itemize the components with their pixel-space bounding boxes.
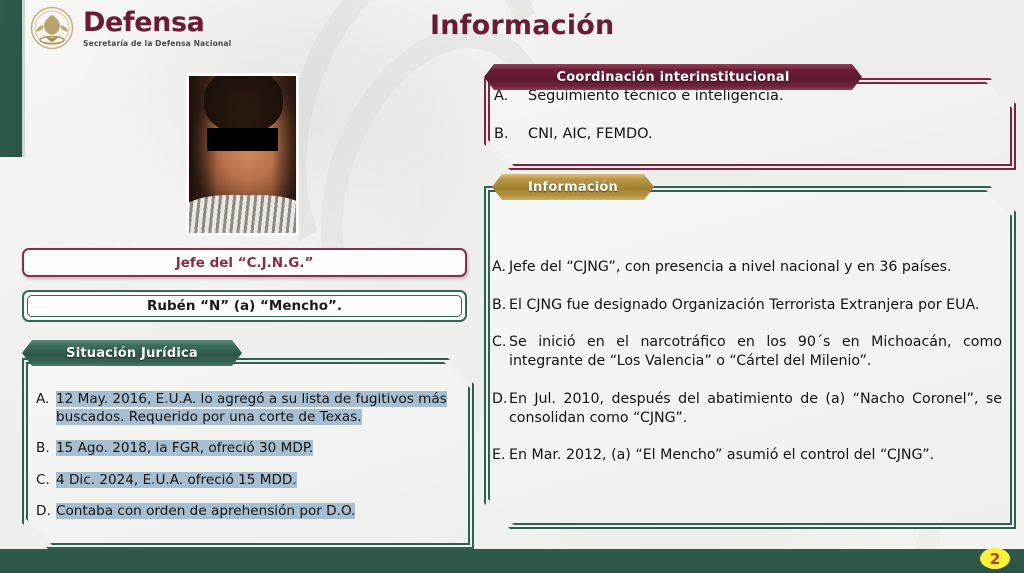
coordinacion-banner-label: Coordinación interinstitucional <box>557 70 790 85</box>
list-item: A. Seguimiento técnico e inteligencia. <box>494 88 1014 104</box>
list-item: B. 15 Ago. 2018, la FGR, ofreció 30 MDP. <box>36 439 468 457</box>
photo-shirt <box>189 195 296 233</box>
list-item-marker: D. <box>492 390 509 409</box>
redaction-bar <box>207 128 278 152</box>
list-item: C. 4 Dic. 2024, E.U.A. ofreció 15 MDD. <box>36 471 468 489</box>
mexico-eagle-emblem-icon <box>30 6 74 50</box>
footer-bar <box>0 549 1024 573</box>
brand-lockup: Defensa Secretaría de la Defensa Naciona… <box>30 6 231 50</box>
list-item-marker: B. <box>492 296 509 315</box>
list-item-text: Contaba con orden de aprehensión por D.O… <box>56 503 355 519</box>
list-item-text: 12 May. 2016, E.U.A. lo agregó a su list… <box>56 391 447 425</box>
name-box-label: Rubén “N” (a) “Mencho”. <box>147 298 342 314</box>
list-item-marker: D. <box>36 502 56 520</box>
list-item-text: 4 Dic. 2024, E.U.A. ofreció 15 MDD. <box>56 472 297 488</box>
list-item-text: CNI, AIC, FEMDO. <box>528 126 1014 142</box>
list-item-text: En Mar. 2012, (a) “El Mencho” asumió el … <box>509 446 1014 465</box>
list-item-marker: A. <box>494 88 528 104</box>
list-item: D. Contaba con orden de aprehensión por … <box>36 502 468 520</box>
list-item: C. Se inició en el narcotráfico en los 9… <box>492 333 1014 370</box>
subject-photo <box>186 73 299 236</box>
list-item-text: En Jul. 2010, después del abatimiento de… <box>509 390 1014 427</box>
brand-text: Defensa Secretaría de la Defensa Naciona… <box>83 9 231 48</box>
left-accent-edge <box>22 0 25 157</box>
list-item: A. Jefe del “CJNG”, con presencia a nive… <box>492 258 1014 277</box>
list-item-text: Seguimiento técnico e inteligencia. <box>528 88 1014 104</box>
informacion-banner-label: Información <box>528 180 618 195</box>
brand-subtitle: Secretaría de la Defensa Nacional <box>83 40 231 48</box>
left-accent-bar <box>0 0 22 157</box>
situacion-juridica-banner: Situación Jurídica <box>22 340 242 366</box>
situacion-juridica-list: A. 12 May. 2016, E.U.A. lo agregó a su l… <box>36 390 468 533</box>
list-item: B. El CJNG fue designado Organización Te… <box>492 296 1014 315</box>
role-box: Jefe del “C.J.N.G.” <box>22 248 467 277</box>
list-item-text: Jefe del “CJNG”, con presencia a nivel n… <box>509 258 1014 277</box>
informacion-banner: Información <box>492 174 654 200</box>
coordinacion-banner: Coordinación interinstitucional <box>484 64 862 90</box>
coordinacion-list: A. Seguimiento técnico e inteligencia. B… <box>494 88 1014 164</box>
list-item-marker: B. <box>36 439 56 457</box>
informacion-list: A. Jefe del “CJNG”, con presencia a nive… <box>492 258 1014 484</box>
list-item-marker: E. <box>492 446 509 465</box>
list-item-marker: C. <box>36 471 56 489</box>
slide-canvas: Defensa Secretaría de la Defensa Naciona… <box>0 0 1024 573</box>
list-item-marker: C. <box>492 333 509 352</box>
list-item-text: 15 Ago. 2018, la FGR, ofreció 30 MDP. <box>56 440 313 456</box>
situacion-juridica-banner-label: Situación Jurídica <box>66 346 198 361</box>
list-item-text: El CJNG fue designado Organización Terro… <box>509 296 1014 315</box>
list-item: B. CNI, AIC, FEMDO. <box>494 126 1014 142</box>
role-box-label: Jefe del “C.J.N.G.” <box>176 255 314 271</box>
list-item-marker: B. <box>494 126 528 142</box>
list-item: A. 12 May. 2016, E.U.A. lo agregó a su l… <box>36 390 468 426</box>
page-number-badge: 2 <box>980 548 1010 569</box>
list-item-text: Se inició en el narcotráfico en los 90´s… <box>509 333 1014 370</box>
list-item: D. En Jul. 2010, después del abatimiento… <box>492 390 1014 427</box>
page-title: Información <box>430 10 614 41</box>
list-item-marker: A. <box>492 258 509 277</box>
name-box: Rubén “N” (a) “Mencho”. <box>22 290 467 322</box>
list-item-marker: A. <box>36 390 56 408</box>
brand-title: Defensa <box>83 9 231 36</box>
list-item: E. En Mar. 2012, (a) “El Mencho” asumió … <box>492 446 1014 465</box>
